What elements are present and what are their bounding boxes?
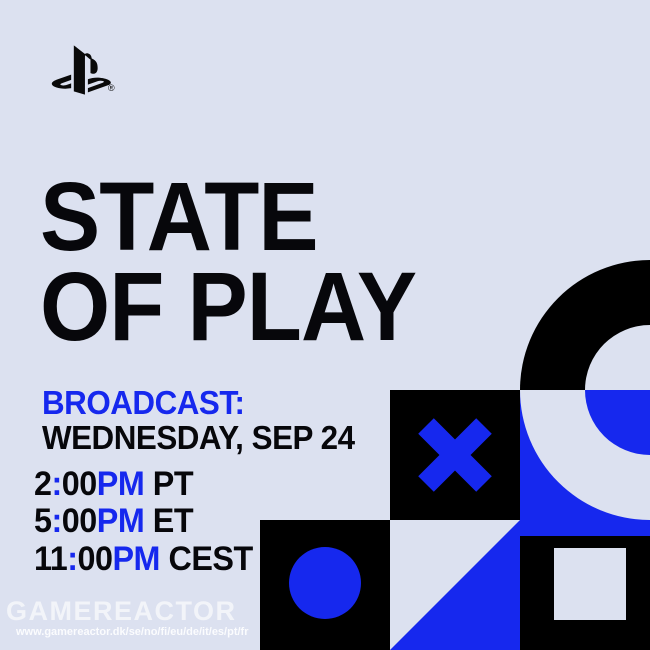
time-minutes: 00 [62,465,97,503]
broadcast-label: BROADCAST: [42,386,355,421]
page-title: STATE OF PLAY [40,172,524,352]
time-minutes: 00 [77,540,112,578]
circle-shape [289,547,361,619]
broadcast-date: WEDNESDAY, SEP 24 [42,421,355,456]
triangle-shape [390,520,520,650]
broadcast-times-list: 2:00PM PT 5:00PM ET 11:00PM CEST [34,466,253,578]
ring-tile-bottom [520,390,650,520]
cross-tile [390,390,520,520]
time-row-et: 5:00PM ET [34,503,253,540]
time-colon: : [52,465,62,503]
time-colon: : [52,502,62,540]
ring-tile-top [520,260,650,390]
triangle-tile [390,520,520,650]
square-tile [520,520,650,650]
arc-shape [520,520,650,536]
playstation-logo [44,44,118,100]
circle-tile [260,520,390,650]
time-hour: 2 [34,465,52,503]
square-shape [554,548,626,620]
time-minutes: 00 [62,502,97,540]
time-meridiem: PM [112,540,160,578]
headline-line-2: OF PLAY [40,262,524,352]
time-meridiem: PM [97,502,145,540]
blue-arc-sliver [520,520,650,536]
watermark-wordmark: GAMEREACTOR [6,596,237,627]
time-meridiem: PM [97,465,145,503]
watermark-url: www.gamereactor.dk/se/no/fi/eu/de/it/es/… [16,626,249,638]
time-hour: 11 [34,540,67,578]
broadcast-block: BROADCAST: WEDNESDAY, SEP 24 [42,386,355,456]
registered-trademark-icon: ® [108,84,115,93]
time-row-cest: 11:00PM CEST [34,541,253,578]
time-zone: CEST [168,540,252,578]
time-hour: 5 [34,502,52,540]
time-zone: ET [153,502,193,540]
time-colon: : [67,540,77,578]
state-of-play-poster: ® STATE OF PLAY BROADCAST: WEDNESDAY, SE… [0,0,650,650]
time-row-pt: 2:00PM PT [34,466,253,503]
time-zone: PT [153,465,193,503]
